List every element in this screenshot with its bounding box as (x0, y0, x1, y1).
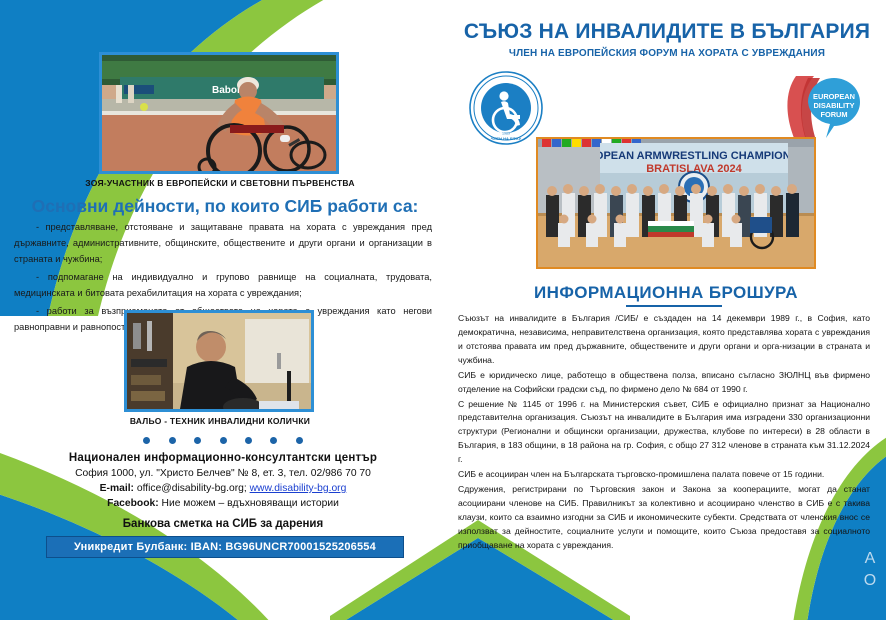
european-disability-forum-logo: EUROPEAN DISABILITY FORUM (786, 72, 866, 144)
edf-line-2: DISABILITY (813, 101, 854, 110)
edf-line-1: EUROPEAN (813, 92, 855, 101)
email-label: E-mail: (100, 483, 134, 494)
divider-dot (194, 437, 201, 444)
page-subtitle: ЧЛЕН НА ЕВРОПЕЙСКИЯ ФОРУМ НА ХОРАТА С УВ… (454, 48, 880, 59)
contact-block: Национален информационно-консултантски ц… (10, 452, 436, 512)
activity-item: - подпомагане на индивидуално и групово … (14, 270, 432, 302)
photo-tennis-caption: ЗОЯ-УЧАСТНИК В ЕВРОПЕЙСКИ И СВЕТОВНИ ПЪР… (40, 178, 400, 188)
facebook-label: Facebook: (107, 498, 159, 509)
photo-tennis: Babolat (99, 52, 339, 174)
divider-dot (270, 437, 277, 444)
body-paragraph: Съюзът на инвалидите в България /СИБ/ е … (458, 312, 870, 368)
contact-email-line: E-mail: office@disability-bg.org; www.di… (10, 482, 436, 497)
brochure-page: Babolat (0, 0, 886, 620)
photo-technician-caption: ВАЛЬО - ТЕХНИК ИНВАЛИДНИ КОЛИЧКИ (60, 416, 380, 426)
sib-logo-footer: ЧЛЕН НА ЕФХУ (491, 136, 522, 141)
edge-letter-o: О (858, 570, 882, 592)
edge-letter-a: А (858, 548, 882, 570)
iban-bar: Уникредит Булбанк: IBAN: BG96UNCR7000152… (46, 536, 404, 558)
armwrestling-banner-line-1: EUROPEAN ARMWRESTLING CHAMPIONSHIP (572, 150, 814, 162)
photo-technician (124, 310, 314, 412)
bank-section-title: Банкова сметка на СИБ за дарения (10, 518, 436, 530)
edf-line-3: FORUM (820, 110, 847, 119)
left-column: Babolat (0, 0, 446, 620)
divider-dot (169, 437, 176, 444)
facebook-value: Ние можем – вдъхновяващи истории (162, 498, 339, 509)
body-paragraph: СИБ е юридическо лице, работещо в общест… (458, 369, 870, 397)
brochure-body: Съюзът на инвалидите в България /СИБ/ е … (458, 312, 870, 554)
edge-vertical-letters: А О (858, 548, 882, 591)
photo-armwrestling: EUROPEAN ARMWRESTLING CHAMPIONSHIP BRATI… (536, 137, 816, 269)
activity-item: - представляване, отстояване и защитаван… (14, 220, 432, 268)
sib-logo: ЧЛЕН НА ЕФХУ 1989 (468, 70, 544, 146)
body-paragraph: С решение № 1145 от 1996 г. на Министерс… (458, 398, 870, 468)
contact-facebook-line: Facebook: Ние можем – вдъхновяващи истор… (10, 497, 436, 512)
dots-divider (0, 432, 446, 450)
divider-dot (245, 437, 252, 444)
page-title: СЪЮЗ НА ИНВАЛИДИТЕ В БЪЛГАРИЯ (454, 20, 880, 44)
brochure-title: ИНФОРМАЦИОННА БРОШУРА (446, 283, 886, 303)
body-paragraph: СИБ е асоцииран член на Българската търг… (458, 468, 870, 482)
email-value: office@disability-bg.org; (137, 483, 247, 494)
activities-heading: Основни дейности, по които СИБ работи са… (20, 196, 430, 217)
divider-dot (296, 437, 303, 444)
contact-center-name: Национален информационно-консултантски ц… (10, 452, 436, 464)
sib-logo-year: 1989 (502, 132, 510, 136)
body-paragraph: Сдружения, регистрирани по Търговския за… (458, 483, 870, 553)
divider-dot (220, 437, 227, 444)
divider-dot (143, 437, 150, 444)
brochure-title-rule (626, 305, 722, 307)
website-link[interactable]: www.disability-bg.org (250, 483, 347, 494)
contact-address: София 1000, ул. "Христо Белчев" № 8, ет.… (10, 467, 436, 482)
